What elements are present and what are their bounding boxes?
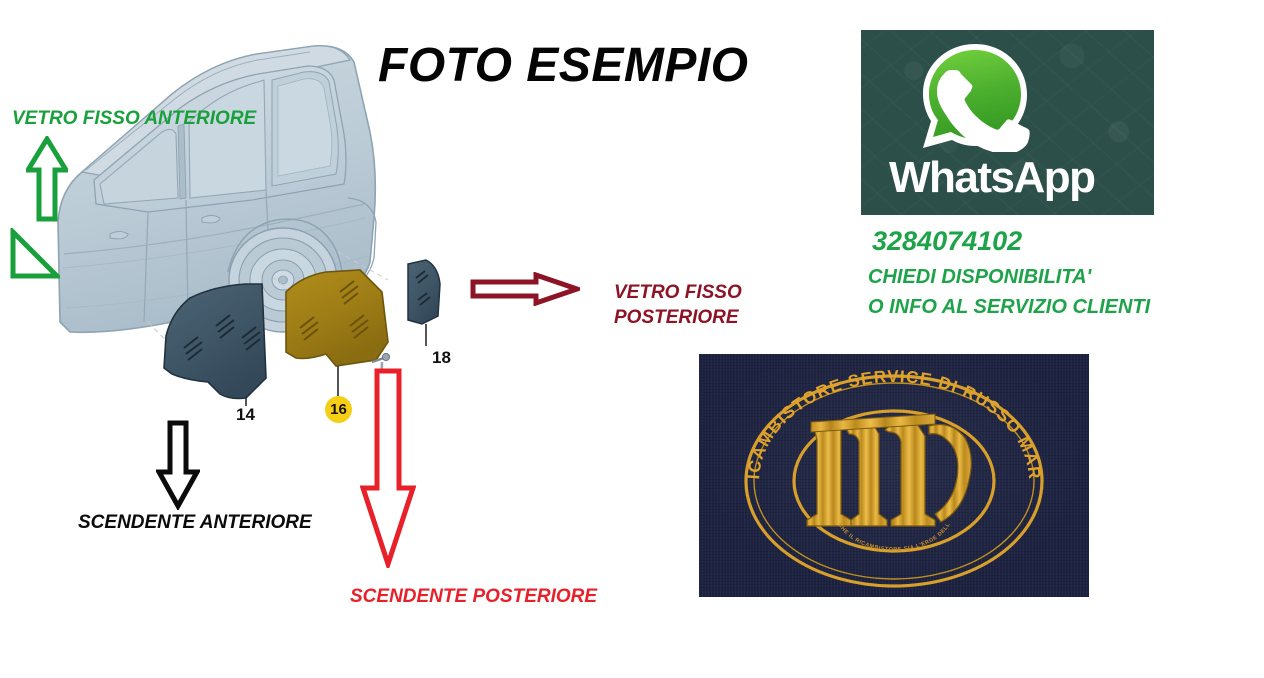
down-arrow-icon-red <box>360 368 416 568</box>
logo-monogram <box>807 414 971 526</box>
part-number-18: 18 <box>432 348 451 368</box>
company-logo-photo: MRICAMBISTORE SERVICE DI RUSSO MARCO UN … <box>699 354 1089 597</box>
right-arrow-icon <box>470 272 580 306</box>
exploded-glass-parts <box>150 250 480 410</box>
down-arrow-icon-black <box>156 420 200 510</box>
triangle-marker-icon <box>8 228 60 280</box>
label-scendente-anteriore: SCENDENTE ANTERIORE <box>78 512 312 534</box>
part-number-14: 14 <box>236 405 255 425</box>
poster-canvas: 14 16 17 18 FOTO ESEMPIO VETRO FISSO ANT… <box>0 0 1264 678</box>
part-number-16-badge: 16 <box>325 396 352 423</box>
part-16-glass <box>286 270 388 366</box>
whatsapp-banner[interactable]: WhatsApp <box>861 30 1154 215</box>
label-scendente-posteriore: SCENDENTE POSTERIORE <box>350 586 597 608</box>
part-14-glass <box>164 284 266 399</box>
page-title: FOTO ESEMPIO <box>378 38 749 93</box>
contact-phone-number[interactable]: 3284074102 <box>872 226 1022 257</box>
contact-line-availability: CHIEDI DISPONIBILITA' <box>868 266 1091 289</box>
contact-line-customer-service: O INFO AL SERVIZIO CLIENTI <box>868 296 1150 319</box>
part-18-glass <box>408 260 440 324</box>
company-logo-mark: MRICAMBISTORE SERVICE DI RUSSO MARCO UN … <box>729 364 1059 589</box>
whatsapp-icon <box>919 40 1031 152</box>
whatsapp-wordmark: WhatsApp <box>889 154 1095 202</box>
label-line-1: VETRO FISSO <box>614 280 742 305</box>
label-vetro-fisso-anteriore: VETRO FISSO ANTERIORE <box>12 108 256 130</box>
up-arrow-icon <box>26 136 68 222</box>
label-vetro-fisso-posteriore: VETRO FISSO POSTERIORE <box>614 280 742 330</box>
label-line-2: POSTERIORE <box>614 305 742 330</box>
